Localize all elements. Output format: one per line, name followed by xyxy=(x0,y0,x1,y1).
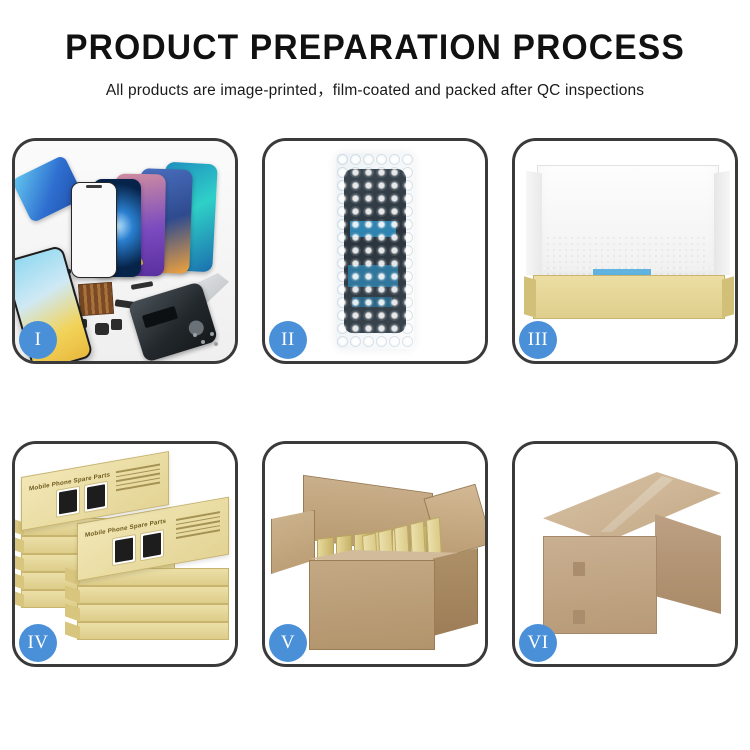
step-panel-1: I xyxy=(12,138,238,364)
page-subtitle: All products are image-printed，film-coat… xyxy=(0,78,750,100)
carton-front-panel xyxy=(309,560,435,650)
step-panel-5: V xyxy=(262,441,488,667)
button-flex-cable xyxy=(131,281,154,290)
step-badge-3: III xyxy=(519,321,557,359)
camera-module xyxy=(95,323,109,335)
sealed-carton-side xyxy=(655,514,721,614)
step-badge-5: V xyxy=(269,624,307,662)
carton-handle-bottom xyxy=(573,610,585,624)
page-title: PRODUCT PREPARATION PROCESS xyxy=(15,30,735,67)
header: PRODUCT PREPARATION PROCESS All products… xyxy=(0,0,750,100)
step-panel-3: III xyxy=(512,138,738,364)
sealed-carton-front xyxy=(543,536,657,634)
step-badge-2: II xyxy=(269,321,307,359)
step-panel-4: Mobile Phone Spare Parts Mobile Phone Sp… xyxy=(12,441,238,667)
stacked-box-r5 xyxy=(77,622,229,640)
kraft-box-base xyxy=(533,275,725,319)
carton-handle-top xyxy=(573,562,585,576)
step-panel-6: VI xyxy=(512,441,738,667)
small-component xyxy=(111,319,122,330)
infographic-page: PRODUCT PREPARATION PROCESS All products… xyxy=(0,0,750,750)
step-badge-4: IV xyxy=(19,624,57,662)
process-steps-grid: I II xyxy=(12,138,738,667)
connector-grid xyxy=(78,282,114,316)
stacked-box-r3 xyxy=(77,586,229,604)
stacked-box-r4 xyxy=(77,604,229,622)
carton-side-panel xyxy=(433,548,478,636)
screws-group xyxy=(193,331,219,347)
step-badge-1: I xyxy=(19,321,57,359)
phone-screen-1 xyxy=(71,182,117,278)
step-badge-6: VI xyxy=(519,624,557,662)
bubble-texture xyxy=(336,153,414,349)
step-panel-2: II xyxy=(262,138,488,364)
